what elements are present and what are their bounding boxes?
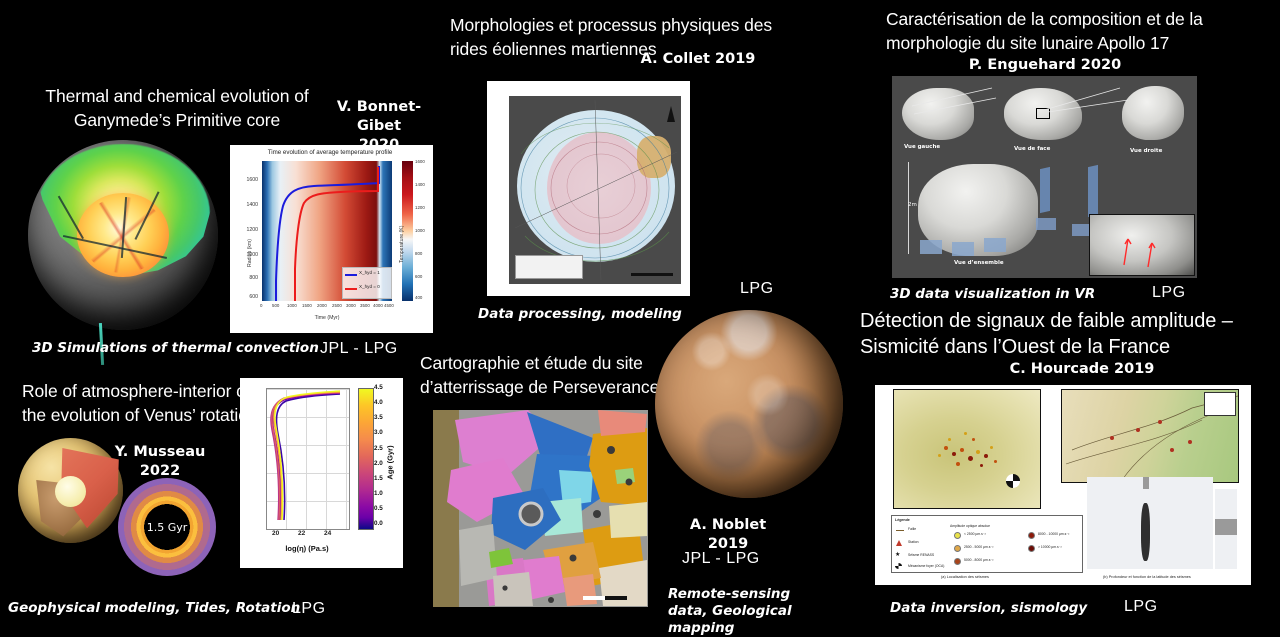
- project-author-perseverance: A. Noblet 2019: [668, 516, 788, 554]
- footprint-marker: [952, 242, 974, 256]
- epicenter-point: [980, 464, 983, 467]
- project-method-perseverance: Remote-sensing data, Geological mapping: [668, 586, 818, 637]
- legend-entry: Mécanisme foyer (OCA): [908, 564, 944, 568]
- seismicity-depth-scatter: [1087, 489, 1213, 569]
- cbtick: 1600: [415, 159, 425, 164]
- panel-venus: Role of atmosphere-interior coupling on …: [0, 378, 420, 626]
- cbtick: 1200: [415, 205, 425, 210]
- ganymede-3d-convection-figure: [28, 140, 218, 330]
- scale-label-2m: 2m: [908, 202, 917, 208]
- cbtick: 3.0: [374, 429, 383, 436]
- epicenter-point: [964, 432, 967, 435]
- project-author-apollo17: P. Enguehard 2020: [930, 56, 1160, 75]
- viscosity-colorbar: [358, 388, 374, 530]
- legend-amp-swatch: [954, 545, 961, 552]
- legend-entry: Séisme RENASS: [908, 553, 934, 557]
- mars-globe-image: [655, 310, 843, 498]
- rock-closeup-inset: [1089, 214, 1195, 276]
- cbtick: 4.5: [374, 384, 383, 391]
- cbtick: 2.5: [374, 445, 383, 452]
- project-lab-venus: LPG: [292, 600, 326, 618]
- annulus-age-label: 1.5 Gyr: [118, 478, 216, 576]
- epicenter-point: [968, 456, 973, 461]
- ytick: 1000: [246, 252, 258, 258]
- station-marker: [1158, 420, 1162, 424]
- epicenter-point: [994, 460, 997, 463]
- xtick: 20: [272, 530, 279, 537]
- epicenter-point: [938, 454, 941, 457]
- legend-focal-icon: [895, 563, 902, 569]
- epicenter-point: [984, 454, 988, 458]
- legend-label-xhyd1: X_hyd = 1: [359, 270, 380, 275]
- project-author-seismicity: C. Hourcade 2019: [962, 360, 1202, 379]
- legend-station-icon: [896, 540, 902, 546]
- project-lab-mars-ridges: LPG: [740, 280, 774, 298]
- legend-label-xhyd0: X_hyd = 0: [359, 284, 380, 289]
- footprint-marker: [920, 240, 942, 254]
- rock-label-overview: Vue d’ensemble: [954, 260, 1004, 266]
- ytick: 1200: [246, 227, 258, 233]
- project-author-venus: Y. Musseau 2022: [105, 443, 215, 481]
- xtick: 22: [298, 530, 305, 537]
- xtick: 3000: [346, 303, 356, 308]
- north-arrow-icon: [667, 106, 675, 122]
- seismicity-panel-b-caption: (b) Profondeur et fonction de la latitud…: [1103, 575, 1191, 579]
- legend-fault-icon: [896, 530, 904, 531]
- epicenter-point: [990, 446, 993, 449]
- epicenter-point: [944, 446, 948, 450]
- cbtick: 1000: [415, 228, 425, 233]
- venus-mantle-convection-snapshot: 1.5 Gyr: [118, 478, 216, 576]
- epicenter-point: [972, 438, 975, 441]
- station-marker: [1188, 440, 1192, 444]
- legend-entry: 5000 - 8000 µm.s⁻²: [964, 558, 993, 562]
- project-method-seismicity: Data inversion, sismology: [890, 600, 1087, 617]
- ytick: 800: [249, 275, 258, 281]
- xtick: 1000: [287, 303, 297, 308]
- panel-ganymede: Thermal and chemical evolution of Ganyme…: [0, 80, 440, 365]
- xtick: 1500: [302, 303, 312, 308]
- epicenter-point: [976, 450, 980, 454]
- ytick: 1400: [246, 202, 258, 208]
- epicenter-point: [948, 438, 951, 441]
- xtick: 2000: [317, 303, 327, 308]
- epicenter-point: [956, 462, 960, 466]
- legend-amp-swatch: [954, 558, 961, 565]
- depth-cluster: [1141, 503, 1150, 561]
- epicenter-point: [952, 452, 956, 456]
- legend-swatch-xhyd1: [345, 274, 357, 276]
- legend-swatch-xhyd0: [345, 288, 357, 290]
- station-marker: [1170, 448, 1174, 452]
- viscosity-colorbar-label: Age (Gyr): [386, 445, 395, 479]
- epicenter-point: [960, 448, 964, 452]
- footprint-marker: [984, 238, 1006, 252]
- xtick: 500: [272, 303, 279, 308]
- presentation-slide: Thermal and chemical evolution of Ganyme…: [0, 0, 1280, 626]
- legend-amp-swatch: [1028, 532, 1035, 539]
- chart-colorbar-label: Temperature (K): [399, 193, 405, 263]
- project-title-perseverance: Cartographie et étude du site d’atterris…: [420, 352, 670, 399]
- cbtick: 0.0: [374, 520, 383, 527]
- panel-apollo17: Caractérisation de la composition et de …: [850, 4, 1280, 309]
- depth-histogram-top: [1087, 477, 1213, 489]
- project-method-venus: Geophysical modeling, Tides, Rotation: [8, 600, 300, 617]
- cbtick: 1400: [415, 182, 425, 187]
- venus-interior-cutaway-figure: [18, 438, 123, 543]
- xtick: 24: [324, 530, 331, 537]
- xtick: 2500: [332, 303, 342, 308]
- station-marker: [1136, 428, 1140, 432]
- project-title-seismicity: Détection de signaux de faible amplitude…: [860, 308, 1270, 360]
- cbtick: 800: [415, 251, 422, 256]
- xtick: 4000: [373, 303, 383, 308]
- geological-map-units: [433, 410, 648, 607]
- chart-yticks: 1600 1400 1200 1000 800 600: [238, 161, 260, 301]
- rock-label-front: Vue de face: [1014, 146, 1050, 152]
- chart-xticks: 0 500 1000 1500 2000 2500 3000 3500 4000…: [262, 303, 392, 313]
- cbtick: 1.0: [374, 490, 383, 497]
- mars-ridges-crater-map-figure: [487, 81, 690, 296]
- rock-label-right: Vue droite: [1130, 148, 1162, 154]
- apollo17-3d-rock-figure: Vue gauche Vue de face Vue droite 2m Vue…: [892, 76, 1197, 278]
- project-method-ganymede: 3D Simulations of thermal convection: [32, 340, 319, 357]
- project-lab-perseverance: JPL - LPG: [682, 550, 760, 568]
- project-author-mars-ridges: A. Collet 2019: [638, 50, 758, 69]
- panel-perseverance: Cartographie et étude du site d’atterris…: [410, 348, 850, 626]
- seismicity-topographic-map: [1061, 389, 1239, 483]
- legend-title: Légende: [895, 518, 910, 522]
- cbtick: 0.5: [374, 505, 383, 512]
- seismicity-legend: Légende Amplitude optique absolue Faille…: [891, 515, 1083, 573]
- legend-group-title: Amplitude optique absolue: [950, 524, 990, 528]
- rock-label-left: Vue gauche: [904, 144, 940, 150]
- seismicity-panel-a-caption: (a) Localisation des séismes: [941, 575, 989, 579]
- viscosity-xlabel: log(η) (Pa.s): [266, 544, 348, 553]
- cbtick: 3.5: [374, 414, 383, 421]
- chart-legend: X_hyd = 1 X_hyd = 0: [342, 267, 392, 299]
- chart-title: Time evolution of average temperature pr…: [240, 149, 420, 156]
- project-title-ganymede: Thermal and chemical evolution of Ganyme…: [38, 85, 316, 132]
- ganymede-temperature-figure: Time evolution of average temperature pr…: [230, 145, 433, 333]
- annotation-chip: [1036, 218, 1056, 230]
- legend-amp-swatch: [1028, 545, 1035, 552]
- legend-entry: 2500 - 5000 µm.s⁻²: [964, 545, 993, 549]
- author-name: V. Bonnet-Gibet: [320, 98, 438, 136]
- legend-entry: > 10000 µm.s⁻²: [1038, 545, 1062, 549]
- panel-mars-ridges: Morphologies et processus physiques des …: [440, 14, 780, 334]
- xtick: 0: [260, 303, 262, 308]
- seismicity-locations-map: [893, 389, 1041, 509]
- chart-colorbar-ticks: 1600 1400 1200 1000 800 600 400: [414, 159, 434, 304]
- venus-viscosity-figure: 20 22 24 log(η) (Pa.s) 4.5 4.0 3.5 3.0 2…: [240, 378, 403, 568]
- legend-entry: Station: [908, 540, 919, 544]
- cbtick: 400: [415, 295, 422, 300]
- rock-footprint-markers: [920, 236, 1040, 258]
- cbtick: 4.0: [374, 399, 383, 406]
- crater-map-legend-box: [515, 255, 583, 279]
- legend-entry: 8000 - 10000 µm.s⁻²: [1038, 532, 1069, 536]
- cbtick: 2.0: [374, 460, 383, 467]
- annotation-slab: [1088, 165, 1098, 217]
- perseverance-geological-map-figure: [433, 410, 648, 607]
- legend-entry: < 2500 µm.s⁻²: [964, 532, 986, 536]
- viscosity-curves: [266, 388, 348, 528]
- focal-mechanism-icon: [1006, 474, 1020, 488]
- project-title-apollo17: Caractérisation de la composition et de …: [886, 8, 1206, 55]
- station-marker: [1110, 436, 1114, 440]
- author-name: Y. Musseau: [105, 443, 215, 462]
- xtick: 4500: [384, 303, 394, 308]
- legend-amp-swatch: [954, 532, 961, 539]
- panel-seismicity: Détection de signaux de faible amplitude…: [850, 300, 1280, 626]
- cbtick: 600: [415, 274, 422, 279]
- scale-bar: [631, 273, 673, 276]
- closeup-arrow-icons: [1090, 215, 1194, 275]
- crater-map-frame: [509, 96, 681, 284]
- ytick: 600: [249, 294, 258, 300]
- project-method-mars-ridges: Data processing, modeling: [478, 306, 682, 323]
- vertical-scale-bar: [908, 162, 909, 254]
- topo-inset-box: [1204, 392, 1236, 416]
- project-lab-ganymede: JPL - LPG: [320, 340, 398, 358]
- cbtick: 1.5: [374, 475, 383, 482]
- project-lab-seismicity: LPG: [1124, 598, 1158, 616]
- chart-xlabel: Time (Myr): [262, 315, 392, 321]
- ytick: 1600: [246, 177, 258, 183]
- seismicity-figure: Légende Amplitude optique absolue Faille…: [875, 385, 1251, 585]
- legend-star-icon: ★: [895, 552, 900, 558]
- depth-histogram-right: [1215, 489, 1237, 569]
- xtick: 3500: [360, 303, 370, 308]
- annotation-slab: [1040, 167, 1050, 213]
- legend-entry: Faille: [908, 527, 916, 531]
